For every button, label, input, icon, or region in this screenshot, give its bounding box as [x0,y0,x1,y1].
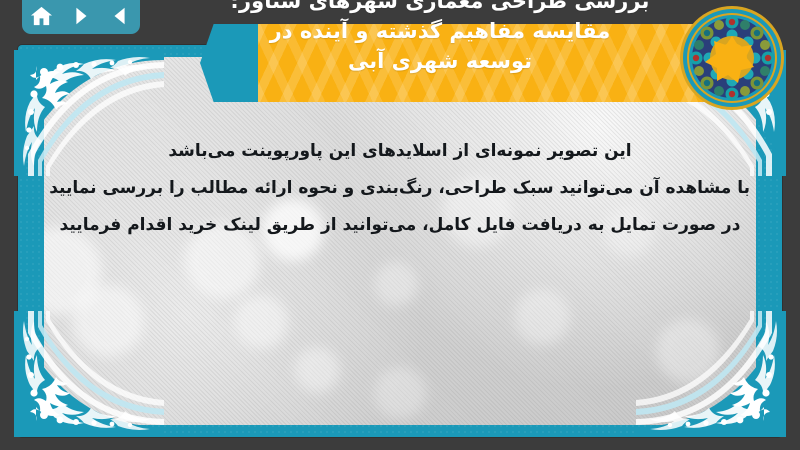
banner-stripe-body [258,24,720,102]
back-triangle-icon[interactable] [107,3,133,29]
bokeh-circle [294,347,340,393]
body-line-1: این تصویر نمونه‌ای از اسلایدهای این پاور… [50,133,750,170]
body-line-2: با مشاهده آن می‌توانید سبک طراحی، رنگ‌بن… [50,170,750,207]
slide-body-text: این تصویر نمونه‌ای از اسلایدهای این پاور… [50,133,750,244]
title-banner [200,24,720,102]
bokeh-circle [234,295,288,349]
banner-left-tab [200,24,262,102]
persian-mandala-medallion [679,5,785,111]
forward-triangle-icon[interactable] [68,3,94,29]
body-line-3: در صورت تمایل به دریافت فایل کامل، می‌تو… [50,207,750,244]
navigation-bar [22,0,140,34]
arabesque-corner-flourish-bottom-right [636,311,786,437]
bokeh-circle [374,367,426,419]
slide-preview-screen: این تصویر نمونه‌ای از اسلایدهای این پاور… [0,0,800,450]
bokeh-circle [374,262,418,306]
home-icon[interactable] [29,3,55,29]
bokeh-circle [514,289,570,345]
arabesque-corner-flourish-bottom-left [14,311,164,437]
